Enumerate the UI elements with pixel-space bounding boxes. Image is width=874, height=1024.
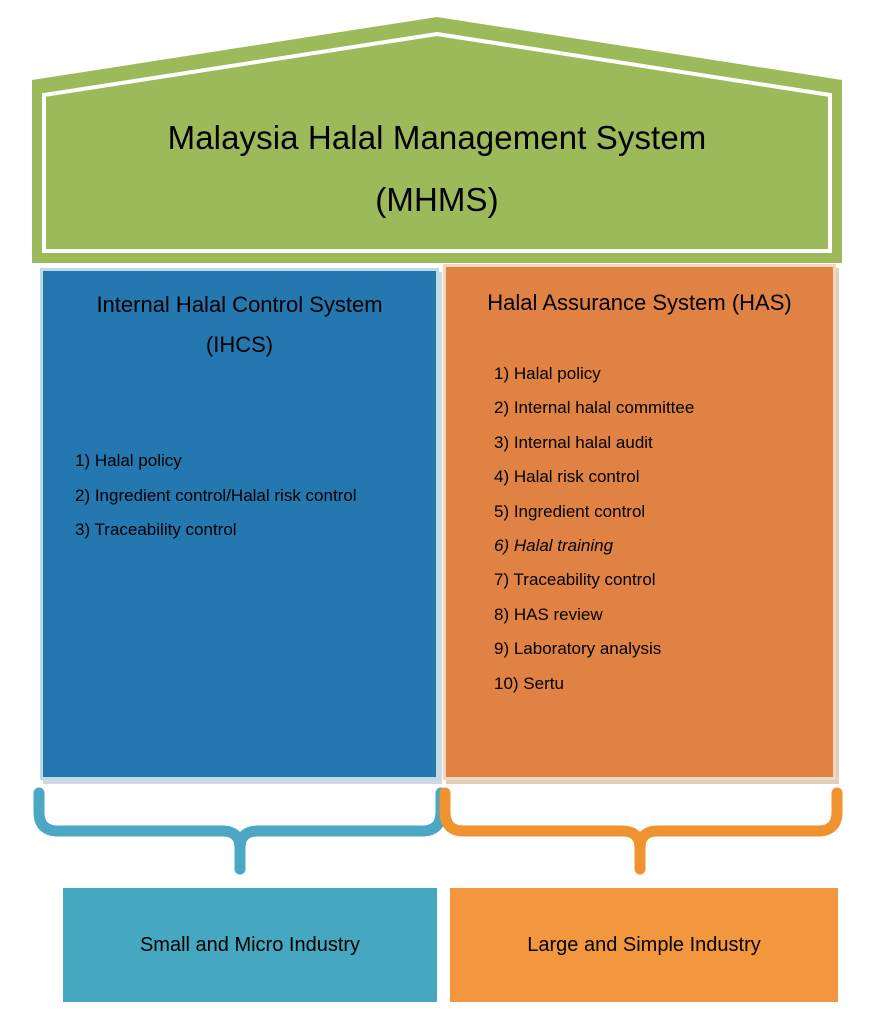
panel-has-list: 1) Halal policy 2) Internal halal commit… bbox=[446, 357, 833, 701]
brace-right bbox=[445, 793, 837, 869]
list-item: 5) Ingredient control bbox=[494, 495, 833, 529]
panel-ihcs-heading-line2: (IHCS) bbox=[43, 325, 436, 365]
outcome-label: Large and Simple Industry bbox=[527, 934, 760, 957]
mhms-diagram: Malaysia Halal Management System (MHMS) … bbox=[0, 0, 874, 1024]
panel-ihcs-heading-line1: Internal Halal Control System bbox=[43, 285, 436, 325]
page-title-line2: (MHMS) bbox=[375, 169, 498, 231]
brace-left bbox=[39, 793, 441, 869]
panel-ihcs-list: 1) Halal policy 2) Ingredient control/Ha… bbox=[43, 444, 436, 548]
header-title-block: Malaysia Halal Management System (MHMS) bbox=[60, 88, 814, 250]
panel-has-heading-line1: Halal Assurance System (HAS) bbox=[446, 283, 833, 323]
outcome-label: Small and Micro Industry bbox=[140, 934, 360, 957]
panel-ihcs[interactable]: Internal Halal Control System (IHCS) 1) … bbox=[40, 268, 439, 780]
list-item: 1) Halal policy bbox=[75, 444, 436, 479]
list-item: 4) Halal risk control bbox=[494, 460, 833, 494]
panel-has-heading: Halal Assurance System (HAS) bbox=[446, 267, 833, 323]
list-item: 9) Laboratory analysis bbox=[494, 632, 833, 666]
list-item: 8) HAS review bbox=[494, 598, 833, 632]
list-item: 1) Halal policy bbox=[494, 357, 833, 391]
list-item: 7) Traceability control bbox=[494, 563, 833, 597]
list-item: 2) Internal halal committee bbox=[494, 391, 833, 425]
list-item: 2) Ingredient control/Halal risk control bbox=[75, 479, 436, 514]
page-title-line1: Malaysia Halal Management System bbox=[168, 107, 707, 169]
list-item: 3) Traceability control bbox=[75, 513, 436, 548]
list-item: 6) Halal training bbox=[494, 529, 833, 563]
outcome-box-small-micro[interactable]: Small and Micro Industry bbox=[63, 888, 437, 1002]
list-item: 10) Sertu bbox=[494, 667, 833, 701]
list-item: 3) Internal halal audit bbox=[494, 426, 833, 460]
outcome-box-large-simple[interactable]: Large and Simple Industry bbox=[450, 888, 838, 1002]
panel-ihcs-heading: Internal Halal Control System (IHCS) bbox=[43, 271, 436, 365]
panel-has[interactable]: Halal Assurance System (HAS) 1) Halal po… bbox=[443, 264, 836, 780]
